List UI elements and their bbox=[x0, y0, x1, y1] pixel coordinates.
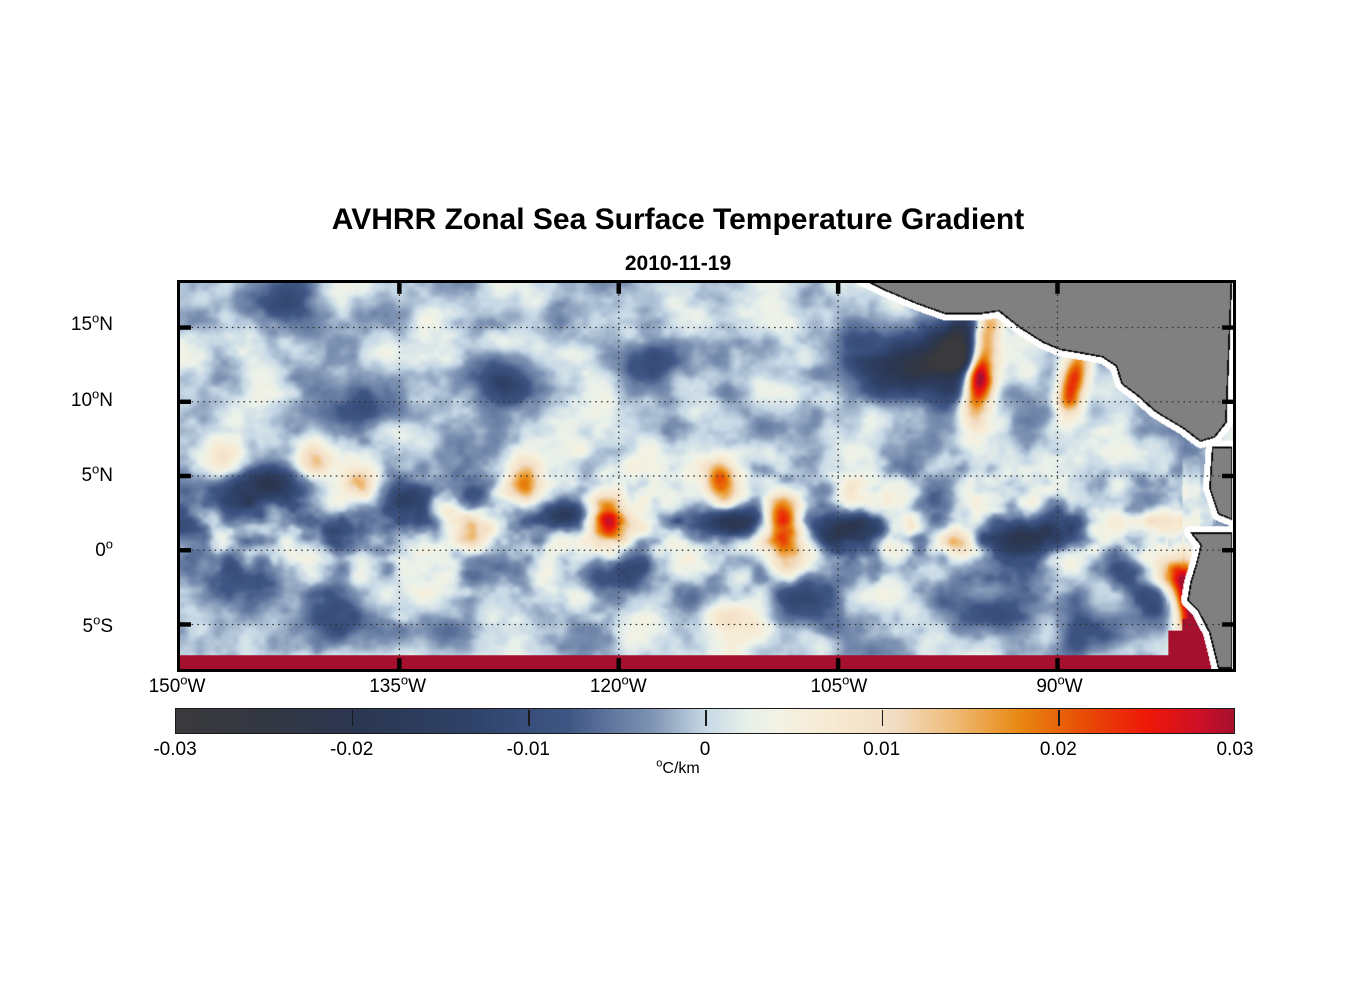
sst-gradient-heatmap bbox=[180, 283, 1233, 669]
colorbar-tick bbox=[882, 710, 884, 726]
y-tick-label: 0o bbox=[0, 540, 113, 562]
figure-container: AVHRR Zonal Sea Surface Temperature Grad… bbox=[0, 0, 1356, 1000]
colorbar-tick-label: -0.02 bbox=[292, 739, 412, 761]
x-tick-label: 135oW bbox=[328, 676, 468, 698]
colorbar-tick-label: 0 bbox=[645, 739, 765, 761]
y-tick-label: 5oN bbox=[0, 465, 113, 487]
colorbar-tick bbox=[352, 710, 354, 726]
map-axes bbox=[177, 280, 1236, 672]
colorbar-tick-label: -0.01 bbox=[468, 739, 588, 761]
y-tick-label: 5oS bbox=[0, 616, 113, 638]
colorbar-tick-label: -0.03 bbox=[115, 739, 235, 761]
colorbar-tick bbox=[1058, 710, 1060, 726]
x-tick-label: 120oW bbox=[548, 676, 688, 698]
x-tick-label: 150oW bbox=[107, 676, 247, 698]
colorbar-tick bbox=[528, 710, 530, 726]
colorbar-tick bbox=[705, 710, 707, 726]
page-title: AVHRR Zonal Sea Surface Temperature Grad… bbox=[0, 203, 1356, 237]
figure-subtitle: 2010-11-19 bbox=[0, 252, 1356, 276]
colorbar-tick-label: 0.01 bbox=[822, 739, 942, 761]
x-tick-label: 90oW bbox=[990, 676, 1130, 698]
colorbar-tick-label: 0.02 bbox=[998, 739, 1118, 761]
x-tick-label: 105oW bbox=[769, 676, 909, 698]
y-tick-label: 15oN bbox=[0, 314, 113, 336]
colorbar-tick-label: 0.03 bbox=[1175, 739, 1295, 761]
colorbar-unit-label: oC/km bbox=[0, 760, 1356, 778]
y-tick-label: 10oN bbox=[0, 390, 113, 412]
